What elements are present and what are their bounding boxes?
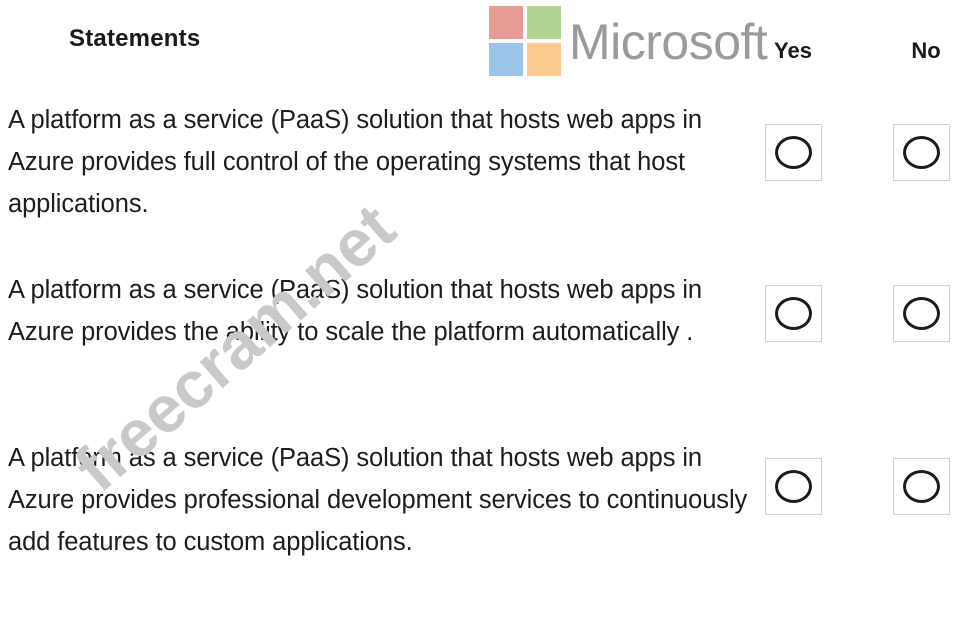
radio-yes-row-2[interactable] [765,285,822,342]
radio-circle-icon [903,297,940,330]
radio-no-row-2[interactable] [893,285,950,342]
radio-circle-icon [775,297,812,330]
statement-text: A platform as a service (PaaS) solution … [8,99,748,225]
radio-yes-row-3[interactable] [765,458,822,515]
radio-circle-icon [903,136,940,169]
radio-circle-icon [903,470,940,503]
yes-column-header: Yes [752,38,834,64]
radio-no-row-1[interactable] [893,124,950,181]
radio-circle-icon [775,136,812,169]
statement-text: A platform as a service (PaaS) solution … [8,437,748,563]
no-column-header: No [886,38,966,64]
radio-yes-row-1[interactable] [765,124,822,181]
radio-circle-icon [775,470,812,503]
statements-column-header: Statements [69,25,200,53]
statement-text: A platform as a service (PaaS) solution … [8,269,748,353]
table-header: Statements Yes No [0,0,970,90]
radio-no-row-3[interactable] [893,458,950,515]
